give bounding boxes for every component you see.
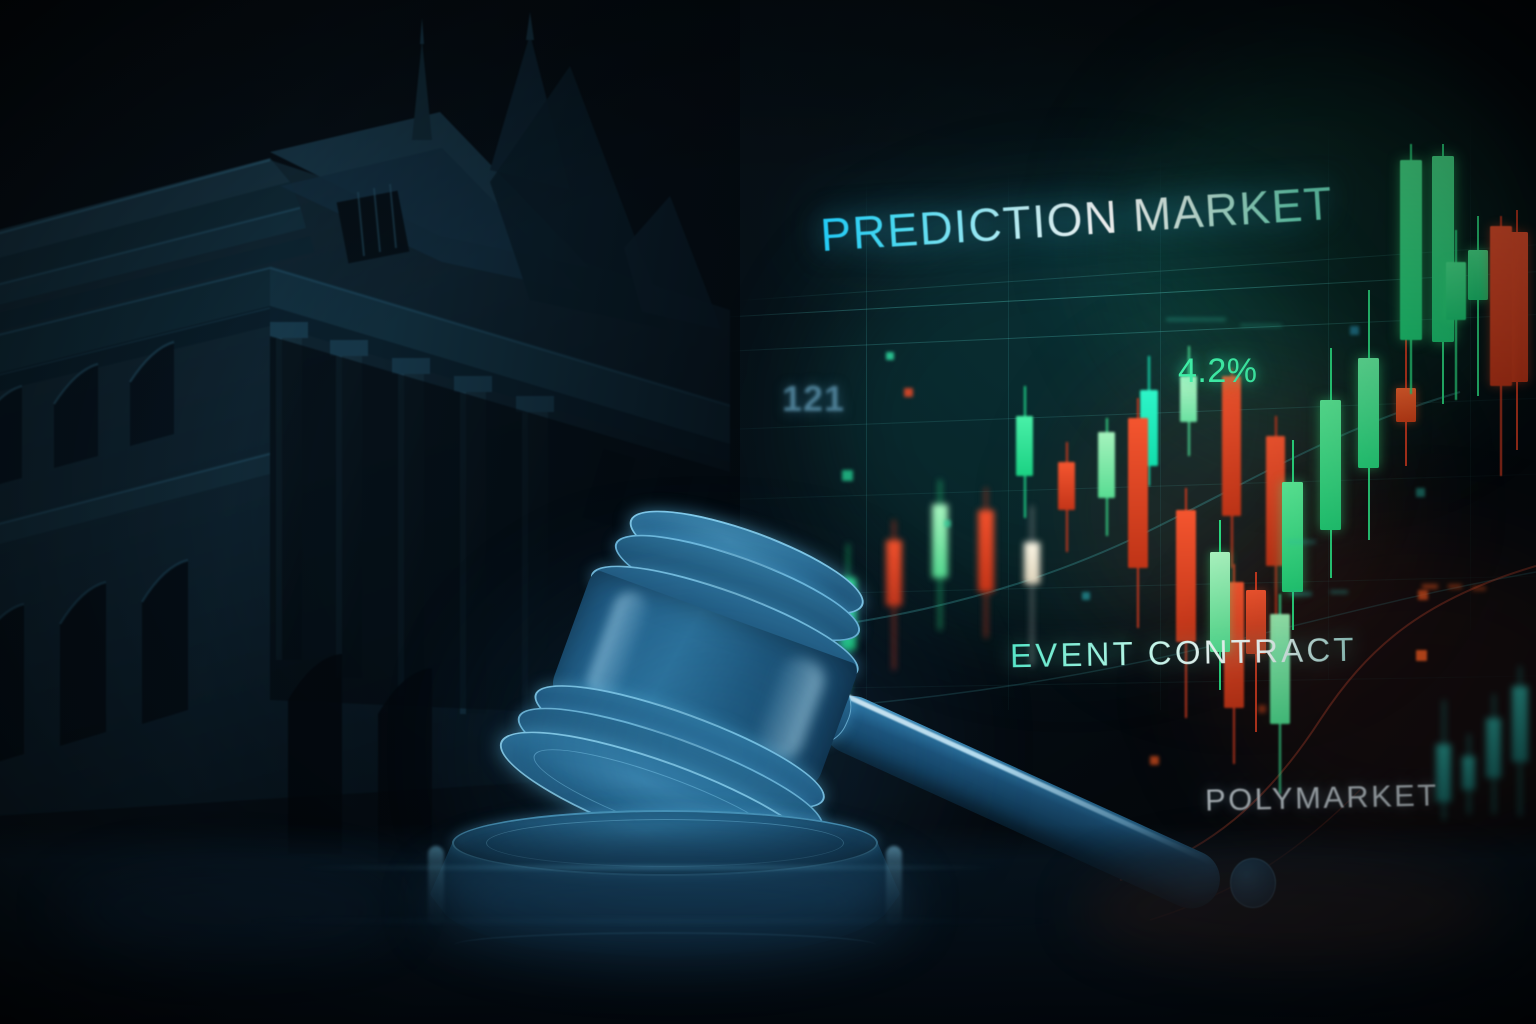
floor-reflection-left (60, 864, 400, 954)
candle-body (1490, 226, 1512, 386)
top-right-candle-group (1400, 60, 1536, 390)
data-dash (1422, 584, 1438, 589)
candle-body (1320, 400, 1341, 530)
scene-root: PREDICTION MARKET 121 4.2% EVENT CONTRAC… (0, 0, 1536, 1024)
candle-up (1400, 144, 1422, 394)
candle-body (1016, 416, 1033, 476)
candle-up (1358, 290, 1379, 540)
candle-body (1358, 358, 1379, 468)
data-blip (1418, 590, 1428, 600)
candle-body (1098, 432, 1115, 498)
candle-up (1446, 230, 1466, 400)
candle-dim (1462, 734, 1475, 814)
candle-dim (1486, 694, 1501, 814)
candle-dim (1512, 666, 1528, 816)
floor-reflection-gavel (430, 844, 910, 964)
floor-reflection-band (300, 866, 1000, 869)
data-dash (1166, 318, 1226, 321)
data-blip (1416, 488, 1425, 497)
data-blip (1350, 326, 1359, 335)
data-blip (1416, 650, 1427, 661)
candle-up (1320, 348, 1341, 578)
value-label-percent: 4.2% (1178, 352, 1258, 391)
data-blip (842, 470, 853, 481)
candle-body (1462, 756, 1475, 790)
data-blip (904, 388, 913, 397)
floor-reflection-right (1080, 854, 1500, 964)
data-dash (1472, 586, 1486, 591)
candle-up (1282, 440, 1303, 630)
data-dash (1290, 592, 1312, 596)
candle-body (1446, 262, 1466, 320)
candle-body (1486, 718, 1501, 778)
candle-body (1282, 482, 1303, 592)
data-blip (886, 352, 894, 360)
floor (0, 824, 1536, 1024)
data-dash (1286, 540, 1316, 544)
candle-body (1512, 686, 1528, 762)
value-label-121: 121 (782, 378, 845, 420)
data-dash (1240, 324, 1282, 327)
data-dash (1330, 590, 1348, 594)
data-dash (1448, 584, 1462, 589)
candle-down (1490, 216, 1512, 476)
candle-body (1400, 160, 1422, 340)
floor-reflection-band-2 (240, 920, 1060, 922)
